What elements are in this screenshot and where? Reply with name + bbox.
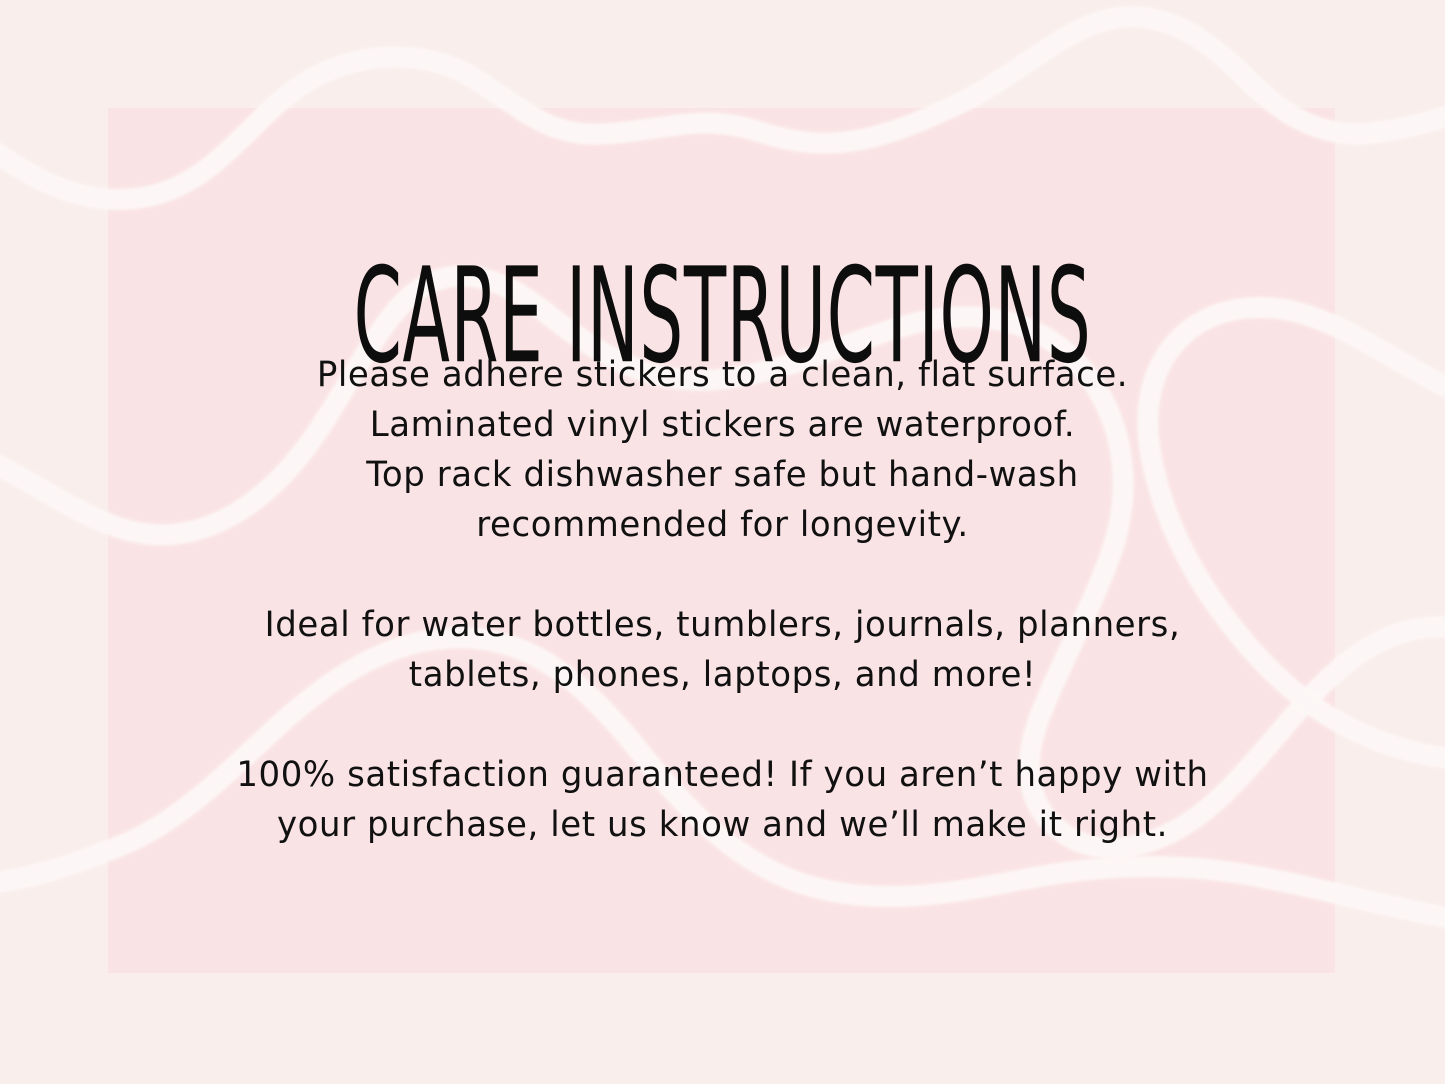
uses-line-1: Ideal for water bottles, tumblers, journ…: [22, 600, 1424, 650]
body-copy: Please adhere stickers to a clean, flat …: [22, 350, 1424, 850]
content-layer: CARE INSTRUCTIONS Please adhere stickers…: [0, 0, 1445, 1084]
care-line-4: recommended for longevity.: [22, 500, 1424, 550]
care-instructions-card: CARE INSTRUCTIONS Please adhere stickers…: [0, 0, 1445, 1084]
paragraph-spacer-1: [22, 550, 1424, 600]
care-line-2: Laminated vinyl stickers are waterproof.: [22, 400, 1424, 450]
care-line-3: Top rack dishwasher safe but hand-wash: [22, 450, 1424, 500]
guarantee-line-1: 100% satisfaction guaranteed! If you are…: [22, 750, 1424, 800]
uses-paragraph: Ideal for water bottles, tumblers, journ…: [22, 600, 1424, 700]
uses-line-2: tablets, phones, laptops, and more!: [22, 650, 1424, 700]
paragraph-spacer-2: [22, 700, 1424, 750]
guarantee-line-2: your purchase, let us know and we’ll mak…: [22, 800, 1424, 850]
guarantee-paragraph: 100% satisfaction guaranteed! If you are…: [22, 750, 1424, 850]
care-line-1: Please adhere stickers to a clean, flat …: [22, 350, 1424, 400]
care-paragraph: Please adhere stickers to a clean, flat …: [22, 350, 1424, 550]
